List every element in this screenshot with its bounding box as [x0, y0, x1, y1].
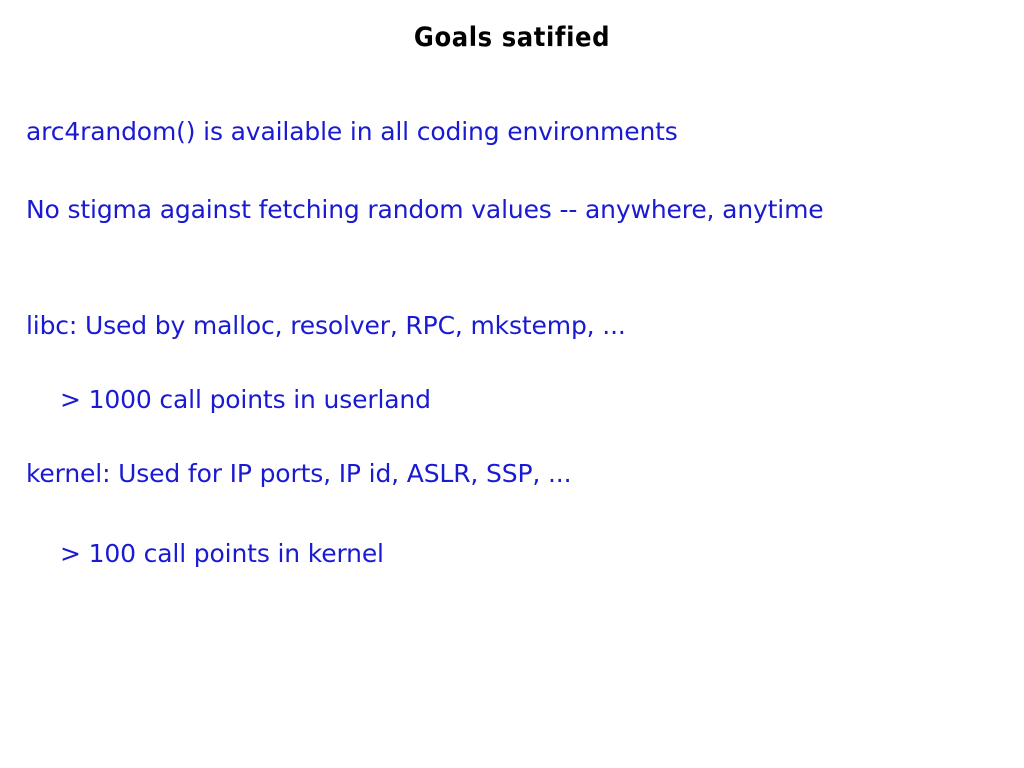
bullet-line-libc: libc: Used by malloc, resolver, RPC, mks… — [26, 310, 626, 342]
bullet-line-2: No stigma against fetching random values… — [26, 194, 824, 226]
sub-bullet-userland-call-points: > 1000 call points in userland — [60, 384, 431, 416]
slide-body: arc4random() is available in all coding … — [0, 104, 1024, 624]
presentation-slide: Goals satified arc4random() is available… — [0, 0, 1024, 768]
slide-title: Goals satified — [0, 22, 1024, 54]
bullet-line-kernel: kernel: Used for IP ports, IP id, ASLR, … — [26, 458, 571, 490]
bullet-line-1: arc4random() is available in all coding … — [26, 116, 678, 148]
sub-bullet-kernel-call-points: > 100 call points in kernel — [60, 538, 384, 570]
